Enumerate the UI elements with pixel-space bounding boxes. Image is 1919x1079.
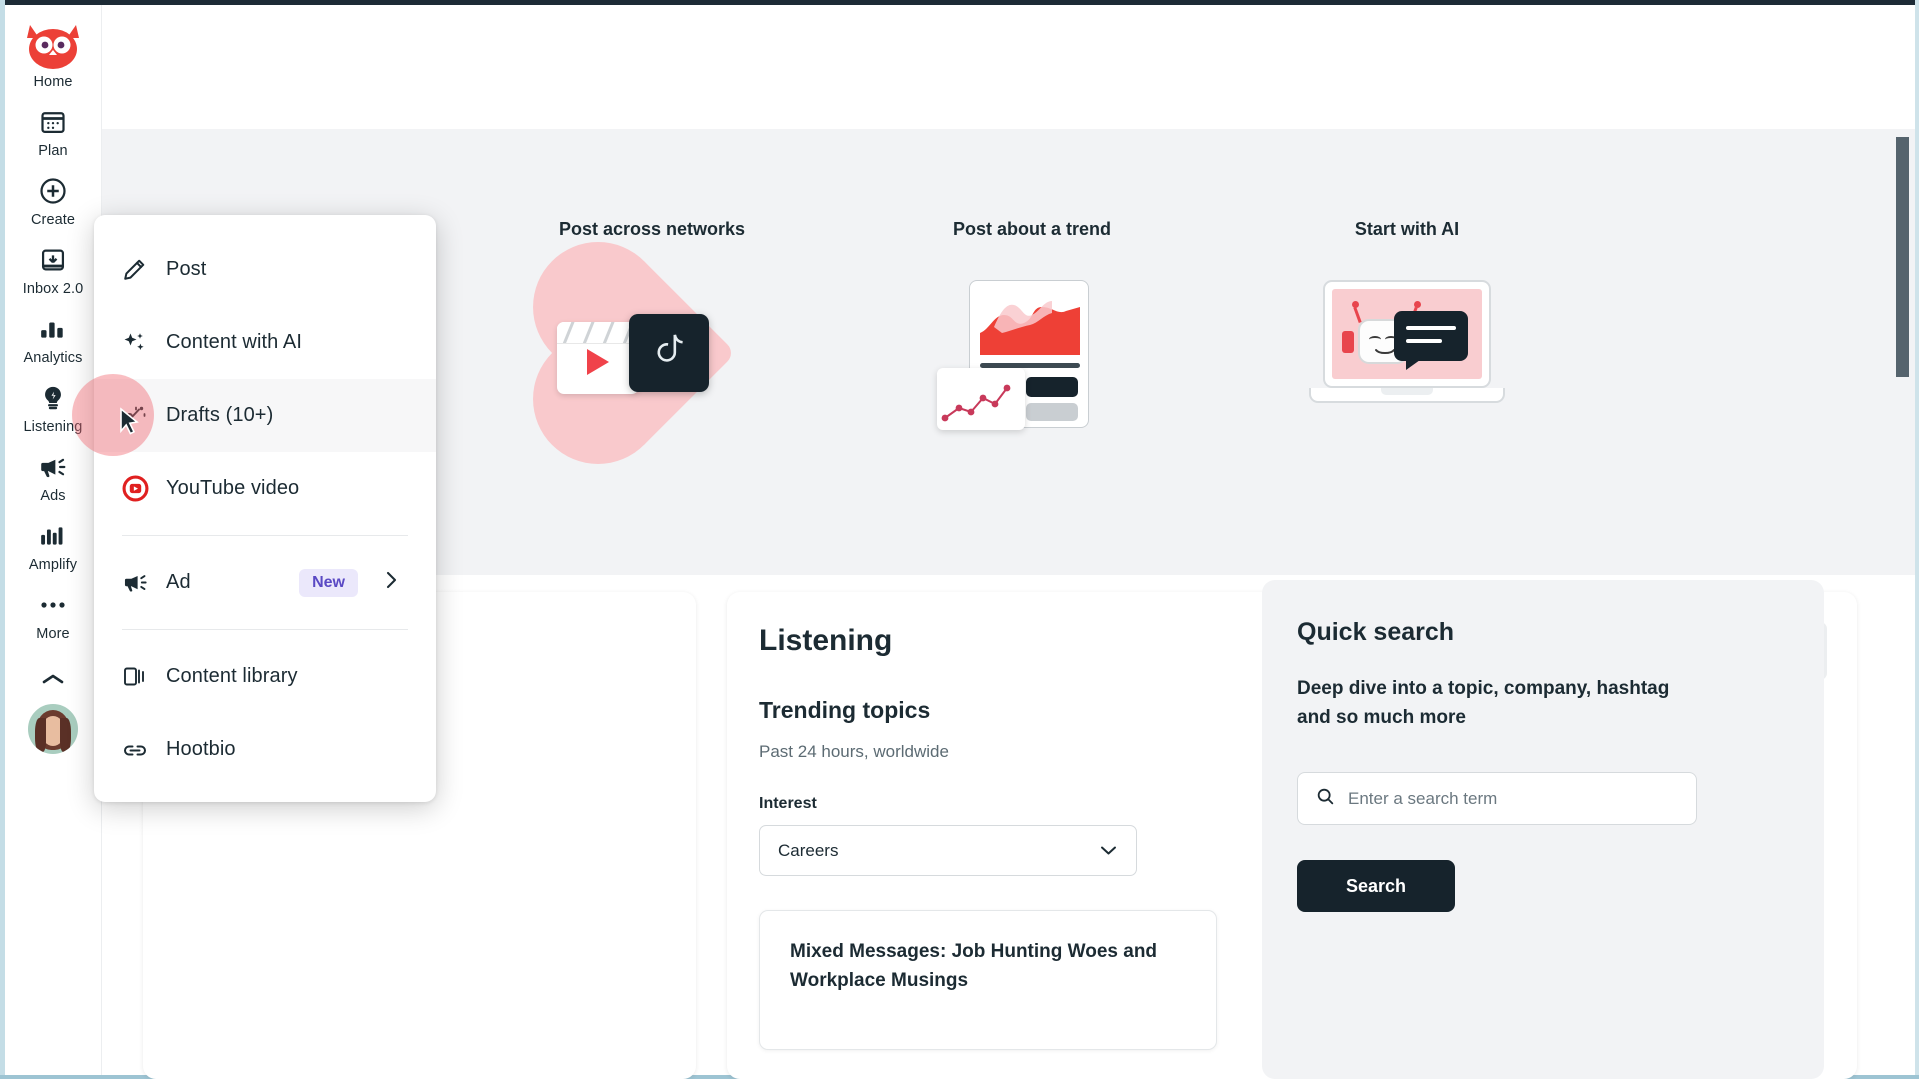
menu-item-content-library[interactable]: Content library — [94, 640, 436, 713]
menu-divider — [122, 629, 408, 630]
window-frame-right — [1915, 0, 1919, 1079]
equalizer-icon — [39, 516, 67, 556]
trending-topic-title: Mixed Messages: Job Hunting Woes and Wor… — [790, 937, 1186, 996]
menu-item-post[interactable]: Post — [94, 233, 436, 306]
chevron-up-icon[interactable] — [40, 662, 66, 696]
sidebar-item-ads[interactable]: Ads — [5, 441, 102, 510]
sidebar-item-label: Ads — [40, 488, 65, 504]
lightbulb-icon — [39, 378, 67, 418]
sidebar-item-label: Inbox 2.0 — [23, 281, 84, 297]
sidebar-item-plan[interactable]: Plan — [5, 96, 102, 165]
link-icon — [122, 739, 166, 761]
networks-art — [557, 280, 747, 430]
listening-panel: Listening See more insights Trending top… — [727, 592, 1857, 1079]
sparkles-icon — [122, 330, 166, 356]
pencil-icon — [122, 257, 166, 282]
menu-item-label: Content library — [166, 665, 298, 688]
trending-topics-subtitle: Past 24 hours, worldwide — [759, 742, 949, 762]
hero-card-title: Post across networks — [557, 219, 747, 240]
menu-item-label: Content with AI — [166, 331, 302, 354]
quick-search-panel: Quick search Deep dive into a topic, com… — [1262, 580, 1824, 1079]
search-input[interactable]: Enter a search term — [1297, 772, 1697, 825]
main-sidebar: Home Plan — [5, 5, 102, 1075]
avatar-hair-left — [35, 718, 46, 752]
avatar[interactable] — [26, 702, 80, 756]
sidebar-item-label: Analytics — [24, 350, 83, 366]
owl-logo-icon — [23, 19, 83, 73]
hero-card-post-across-networks[interactable]: Post across networks — [557, 219, 747, 430]
sidebar-item-analytics[interactable]: Analytics — [5, 303, 102, 372]
interest-select[interactable]: Careers — [759, 825, 1137, 876]
menu-item-label: YouTube video — [166, 477, 299, 500]
avatar-hair-right — [60, 718, 71, 752]
inbox-download-icon — [39, 240, 67, 280]
sidebar-item-listening[interactable]: Listening — [5, 372, 102, 441]
megaphone-icon — [38, 447, 68, 487]
interest-selected-value: Careers — [778, 841, 838, 861]
menu-item-label: Drafts (10+) — [166, 404, 273, 427]
megaphone-icon — [122, 571, 166, 594]
hootsuite-dashboard: Home Plan — [0, 0, 1919, 1079]
menu-item-ad[interactable]: Ad New — [94, 546, 436, 619]
content-library-icon — [122, 664, 166, 689]
menu-item-youtube-video[interactable]: YouTube video — [94, 452, 436, 525]
sidebar-item-create[interactable]: Create — [5, 165, 102, 234]
tiktok-icon — [629, 314, 709, 392]
youtube-icon — [122, 475, 166, 502]
drafts-magic-icon — [122, 403, 166, 429]
menu-item-label: Hootbio — [166, 738, 236, 761]
sidebar-item-amplify[interactable]: Amplify — [5, 510, 102, 579]
hero-card-title: Start with AI — [1317, 219, 1497, 240]
ai-art — [1317, 280, 1497, 415]
sidebar-item-label: Amplify — [29, 557, 77, 573]
plus-circle-icon — [38, 171, 68, 211]
chevron-down-icon — [1099, 841, 1118, 861]
trending-topic-card[interactable]: Mixed Messages: Job Hunting Woes and Wor… — [759, 910, 1217, 1050]
menu-divider — [122, 535, 408, 536]
chevron-right-icon — [385, 570, 398, 595]
video-tile-icon — [557, 322, 639, 394]
top-header-bar — [102, 5, 1915, 129]
interest-label: Interest — [759, 795, 817, 813]
calendar-icon — [39, 102, 67, 142]
sidebar-item-label: Listening — [24, 419, 83, 435]
search-icon — [1316, 787, 1335, 811]
status-badge: New — [299, 569, 358, 597]
sidebar-item-home[interactable]: Home — [5, 13, 102, 96]
trend-art — [937, 280, 1127, 435]
sidebar-item-label: More — [36, 626, 69, 642]
hero-card-title: Post about a trend — [937, 219, 1127, 240]
quick-search-title: Quick search — [1297, 618, 1454, 647]
hero-card-start-with-ai[interactable]: Start with AI — [1317, 219, 1497, 415]
sidebar-item-more[interactable]: More — [5, 579, 102, 648]
sidebar-item-label: Create — [31, 212, 75, 228]
quick-search-description: Deep dive into a topic, company, hashtag… — [1297, 675, 1697, 732]
search-button[interactable]: Search — [1297, 860, 1455, 912]
menu-item-label: Post — [166, 258, 206, 281]
listening-title: Listening — [759, 624, 892, 658]
ellipsis-icon — [39, 585, 67, 625]
trending-topics-title: Trending topics — [759, 697, 930, 724]
menu-item-content-with-ai[interactable]: Content with AI — [94, 306, 436, 379]
menu-item-hootbio[interactable]: Hootbio — [94, 713, 436, 786]
menu-item-drafts[interactable]: Drafts (10+) — [94, 379, 436, 452]
sidebar-item-label: Plan — [38, 143, 67, 159]
bar-chart-icon — [39, 309, 67, 349]
sidebar-item-inbox[interactable]: Inbox 2.0 — [5, 234, 102, 303]
sidebar-item-label: Home — [33, 74, 72, 90]
hero-card-post-about-a-trend[interactable]: Post about a trend — [937, 219, 1127, 435]
search-input-placeholder: Enter a search term — [1348, 789, 1497, 809]
create-dropdown-menu: Post Content with AI — [94, 215, 436, 802]
menu-item-label: Ad — [166, 571, 191, 594]
